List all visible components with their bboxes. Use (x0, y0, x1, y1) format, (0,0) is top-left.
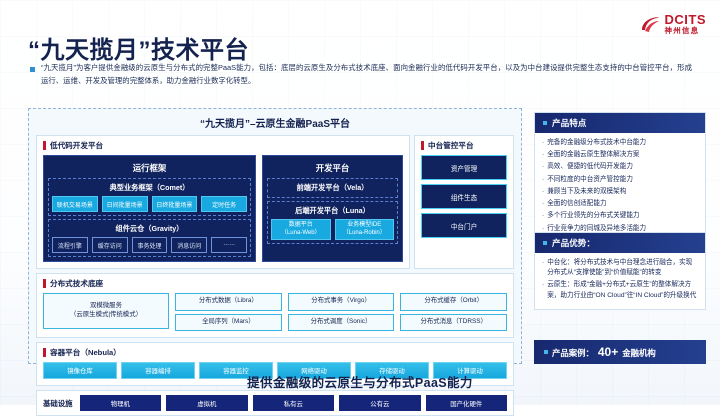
feature-text: 兼顾当下及未来的双模架构 (547, 187, 626, 197)
product-case-suffix: 金融机构 (622, 347, 656, 359)
product-features-header: 产品特点 (535, 113, 705, 133)
advantage-text: 云原生：形成“金融+分布式+云原生”的整体解决方案，助力行业由“ON Cloud… (547, 280, 698, 300)
lowcode-section-header: 低代码开发平台 (43, 140, 403, 151)
frontend-block: 前端开发平台（Vela） (267, 178, 398, 198)
product-case-number: 40+ (598, 345, 618, 359)
square-marker-icon (543, 241, 547, 245)
feature-text: 不同粒度的中台资产管控能力 (547, 175, 633, 185)
backend-item-code: （Luna-Robin） (343, 230, 386, 236)
gravity-item[interactable]: 消息访问 (171, 237, 207, 253)
square-marker-icon (544, 350, 548, 354)
product-advantages-card: 产品优势： ·中台化：将分布式技术与中台理念进行融合，实现分布式从“支撑使能”到… (534, 232, 706, 310)
feature-item: ·不同粒度的中台资产管控能力 (542, 175, 698, 185)
architecture-diagram: “九天揽月”–云原生金融PaaS平台 低代码开发平台 运行框架 典型业务框架（C… (28, 108, 522, 364)
gravity-item[interactable]: 流程引擎 (52, 237, 88, 253)
brand-name-cn: 神州信息 (665, 27, 707, 35)
gravity-item[interactable]: 缓存访问 (92, 237, 128, 253)
gravity-block: 组件云仓（Gravity） 流程引擎 缓存访问 事务处理 消息访问 …… (48, 219, 251, 257)
feature-text: 多个行业领先的分布式关键能力 (547, 211, 639, 221)
infrastructure-item[interactable]: 虚拟机 (166, 395, 247, 411)
dot-icon: · (542, 211, 544, 221)
advantage-item: ·云原生：形成“金融+分布式+云原生”的整体解决方案，助力行业由“ON Clou… (542, 280, 698, 300)
infrastructure-item[interactable]: 公有云 (339, 395, 420, 411)
square-bullet-icon (30, 67, 35, 72)
gravity-title: 组件云仓（Gravity） (52, 223, 247, 237)
base-column: 分布式事务（Virgo） 分布式调度（Sonic） (288, 293, 395, 331)
product-features-title: 产品特点 (552, 117, 586, 129)
base-item[interactable]: 分布式缓存（Orbit） (400, 293, 507, 311)
feature-item: ·全面的金融云原生整体解决方案 (542, 150, 698, 160)
base-item[interactable]: 分布式调度（Sonic） (288, 314, 395, 332)
product-advantages-header: 产品优势： (535, 233, 705, 253)
base-column: 分布式缓存（Orbit） 分布式消息（TDRSS） (400, 293, 507, 331)
dot-icon: · (542, 199, 544, 209)
backend-item[interactable]: 数据平台 （Luna-Web） (271, 219, 331, 240)
dot-icon: · (542, 187, 544, 197)
feature-item: ·完备的金融级分布式技术中台能力 (542, 138, 698, 148)
dot-icon: · (542, 175, 544, 185)
infrastructure-section: 基础设施 物理机 虚拟机 私有云 公有云 国产化硬件 (36, 390, 514, 416)
container-platform-title: 容器平台（Nebula） (50, 347, 121, 358)
footer-caption: 提供金融级的云原生与分布式PaaS能力 (0, 372, 720, 391)
comet-item[interactable]: 联机交易场景 (52, 196, 98, 212)
lowcode-section: 低代码开发平台 运行框架 典型业务框架（Comet） 联机交易场景 日间批量场景… (36, 135, 410, 269)
container-platform-header: 容器平台（Nebula） (43, 347, 507, 358)
feature-item: ·兼顾当下及未来的双模架构 (542, 187, 698, 197)
section-tick-icon (43, 348, 46, 357)
base-item[interactable]: 分布式数据（Libra） (175, 293, 282, 311)
distributed-base-header: 分布式技术底座 (43, 278, 507, 289)
infrastructure-label: 基础设施 (43, 398, 75, 409)
base-column: 分布式数据（Libra） 全局序列（Mars） (175, 293, 282, 331)
product-case-label: 产品案例： (552, 347, 594, 359)
feature-text: 全面的金融云原生整体解决方案 (547, 150, 639, 160)
square-marker-icon (543, 121, 547, 125)
product-advantages-title: 产品优势： (552, 237, 595, 249)
backend-item-name: 数据平台 (289, 222, 313, 228)
midplatform-item[interactable]: 资产管理 (421, 155, 507, 180)
dcits-swirl-icon (639, 14, 661, 34)
frontend-title: 前端开发平台（Vela） (271, 182, 394, 194)
feature-item: ·多个行业领先的分布式关键能力 (542, 211, 698, 221)
gravity-item[interactable]: …… (211, 237, 247, 253)
dual-mode-microservice-cell[interactable]: 双模微服务 （云原生模式|传统模式） (43, 293, 169, 329)
backend-title: 后端开发平台（Luna） (271, 205, 394, 219)
base-item[interactable]: 全局序列（Mars） (175, 314, 282, 332)
midplatform-item[interactable]: 组件生态 (421, 184, 507, 209)
feature-text: 高效、便捷的低代码开发能力 (547, 162, 633, 172)
dot-icon: · (542, 258, 544, 278)
dot-icon: · (542, 162, 544, 172)
advantage-text: 中台化：将分布式技术与中台理念进行融合，实现分布式从“支撑使能”到“价值赋能”的… (547, 258, 698, 278)
comet-item[interactable]: 日间批量场景 (102, 196, 148, 212)
section-tick-icon (43, 141, 46, 150)
intro-paragraph: “九天揽月”为客户提供金融级的云原生与分布式的完整PaaS能力，包括：底层的云原… (30, 62, 692, 88)
midplatform-section-title: 中台管控平台 (428, 140, 474, 151)
brand-logo: DCITS 神州信息 (639, 13, 707, 35)
page-title: “九天揽月”技术平台 (28, 30, 249, 65)
devplatform-panel: 开发平台 前端开发平台（Vela） 后端开发平台（Luna） 数据平台 （Lun… (262, 155, 403, 262)
gravity-item[interactable]: 事务处理 (132, 237, 168, 253)
dot-icon: · (542, 150, 544, 160)
brand-name-en: DCITS (665, 13, 707, 26)
base-item[interactable]: 分布式事务（Virgo） (288, 293, 395, 311)
dot-icon: · (542, 280, 544, 300)
midplatform-section-header: 中台管控平台 (421, 140, 507, 151)
devplatform-title: 开发平台 (267, 160, 398, 178)
distributed-base-title: 分布式技术底座 (50, 278, 103, 289)
product-features-card: 产品特点 ·完备的金融级分布式技术中台能力 ·全面的金融云原生整体解决方案 ·高… (534, 112, 706, 243)
runtime-title: 运行框架 (48, 160, 251, 178)
dual-mode-modes: （云原生模式|传统模式） (70, 311, 142, 318)
feature-item: ·高效、便捷的低代码开发能力 (542, 162, 698, 172)
section-tick-icon (421, 141, 424, 150)
product-case-banner: 产品案例： 40+ 金融机构 (534, 340, 706, 364)
diagram-title: “九天揽月”–云原生金融PaaS平台 (31, 111, 519, 135)
backend-item-code: （Luna-Web） (281, 230, 321, 236)
comet-title: 典型业务框架（Comet） (52, 182, 247, 196)
comet-item[interactable]: 定时任务 (201, 196, 247, 212)
dual-mode-name: 双模微服务 (90, 302, 122, 309)
distributed-base-section: 分布式技术底座 双模微服务 （云原生模式|传统模式） 分布式数据（Libra） … (36, 273, 514, 338)
dot-icon: · (542, 138, 544, 148)
base-item[interactable]: 分布式消息（TDRSS） (400, 314, 507, 332)
backend-block: 后端开发平台（Luna） 数据平台 （Luna-Web） 业务模型IDE （Lu… (267, 201, 398, 244)
comet-item[interactable]: 日终批量场景 (152, 196, 198, 212)
slide-root: DCITS 神州信息 “九天揽月”技术平台 “九天揽月”为客户提供金融级的云原生… (0, 0, 720, 405)
midplatform-section: 中台管控平台 资产管理 组件生态 中台门户 (414, 135, 514, 269)
backend-item[interactable]: 业务模型IDE （Luna-Robin） (335, 219, 395, 240)
feature-item: ·全面的信创适配能力 (542, 199, 698, 209)
feature-text: 全面的信创适配能力 (547, 199, 606, 209)
advantage-item: ·中台化：将分布式技术与中台理念进行融合，实现分布式从“支撑使能”到“价值赋能”… (542, 258, 698, 278)
feature-text: 完备的金融级分布式技术中台能力 (547, 138, 646, 148)
lowcode-section-title: 低代码开发平台 (50, 140, 103, 151)
infrastructure-item[interactable]: 物理机 (80, 395, 161, 411)
section-tick-icon (43, 279, 46, 288)
runtime-panel: 运行框架 典型业务框架（Comet） 联机交易场景 日间批量场景 日终批量场景 … (43, 155, 256, 262)
infrastructure-item[interactable]: 私有云 (253, 395, 334, 411)
midplatform-item[interactable]: 中台门户 (421, 213, 507, 238)
comet-block: 典型业务框架（Comet） 联机交易场景 日间批量场景 日终批量场景 定时任务 (48, 178, 251, 216)
backend-item-name: 业务模型IDE (347, 222, 381, 228)
intro-text: “九天揽月”为客户提供金融级的云原生与分布式的完整PaaS能力，包括：底层的云原… (41, 62, 692, 88)
infrastructure-item[interactable]: 国产化硬件 (426, 395, 507, 411)
